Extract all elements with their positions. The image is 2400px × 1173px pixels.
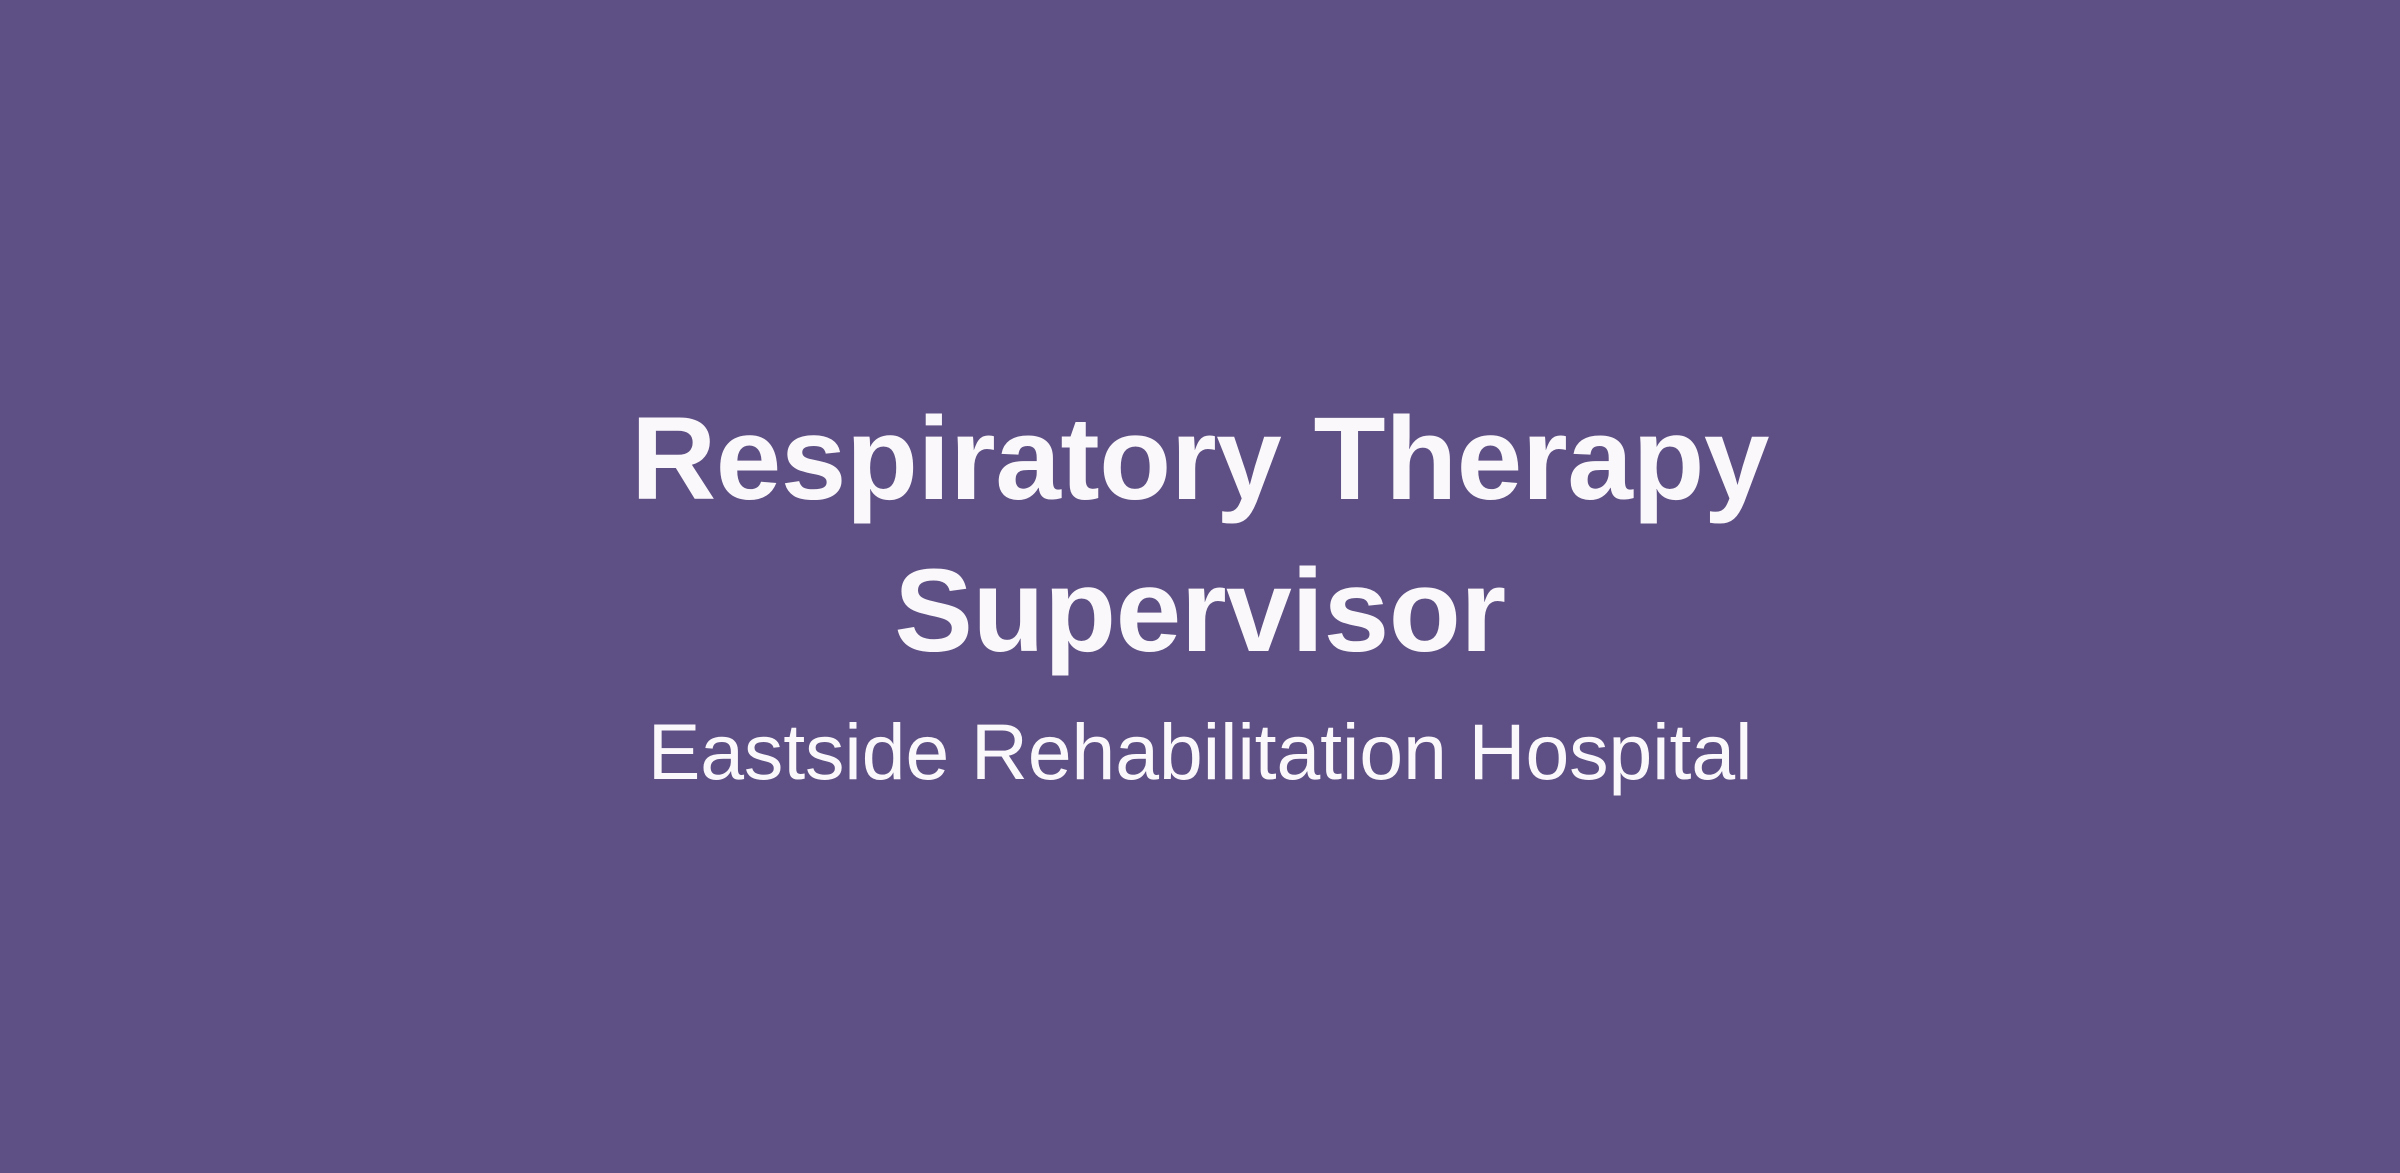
organization-name: Eastside Rehabilitation Hospital xyxy=(648,701,1753,804)
hero-text-block: Respiratory Therapy Supervisor Eastside … xyxy=(585,383,1815,804)
job-title: Respiratory Therapy Supervisor xyxy=(600,383,1800,687)
hero-banner: Respiratory Therapy Supervisor Eastside … xyxy=(0,0,2400,1173)
